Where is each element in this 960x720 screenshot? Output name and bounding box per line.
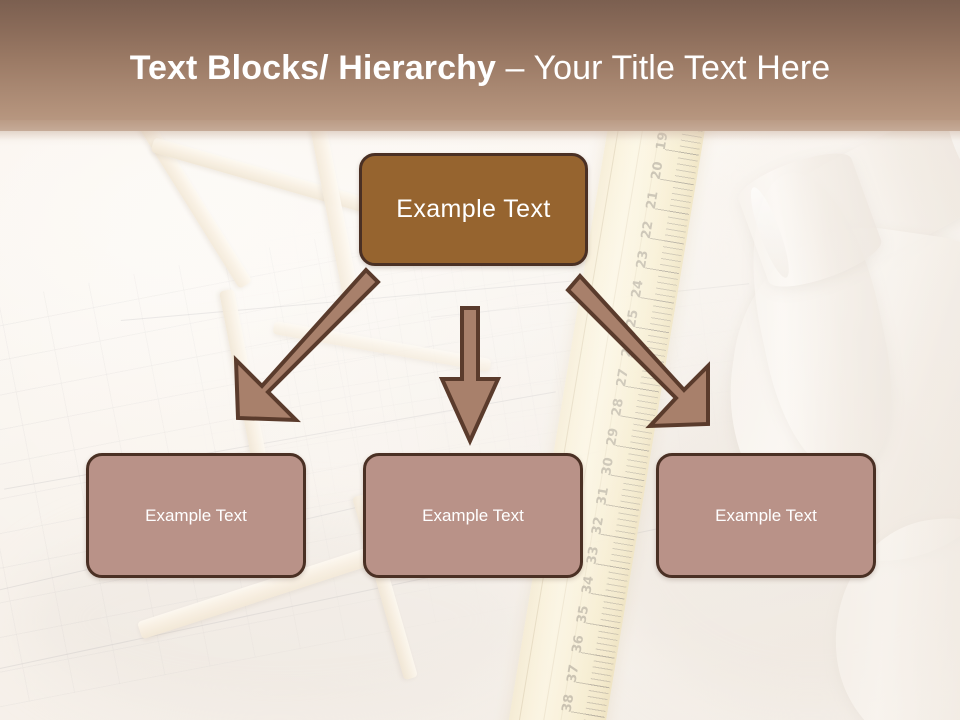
- page-title-regular: – Your Title Text Here: [496, 49, 830, 87]
- hierarchy-child-box-2[interactable]: Example Text: [363, 453, 583, 578]
- hierarchy-parent-label: Example Text: [396, 195, 550, 224]
- hierarchy-child-label-3: Example Text: [715, 506, 817, 526]
- slide-title-banner-fade: [0, 120, 960, 146]
- hierarchy-child-box-3[interactable]: Example Text: [656, 453, 876, 578]
- hierarchy-child-label-1: Example Text: [145, 506, 247, 526]
- slide-canvas: 16 17 18 19 20 21 22 23 24 25 26 27 28 2…: [0, 0, 960, 720]
- hierarchy-child-box-1[interactable]: Example Text: [86, 453, 306, 578]
- hierarchy-parent-box[interactable]: Example Text: [359, 153, 588, 266]
- hierarchy-child-label-2: Example Text: [422, 506, 524, 526]
- page-title-bold: Text Blocks/ Hierarchy: [130, 49, 496, 87]
- page-title: Text Blocks/ Hierarchy – Your Title Text…: [0, 48, 960, 88]
